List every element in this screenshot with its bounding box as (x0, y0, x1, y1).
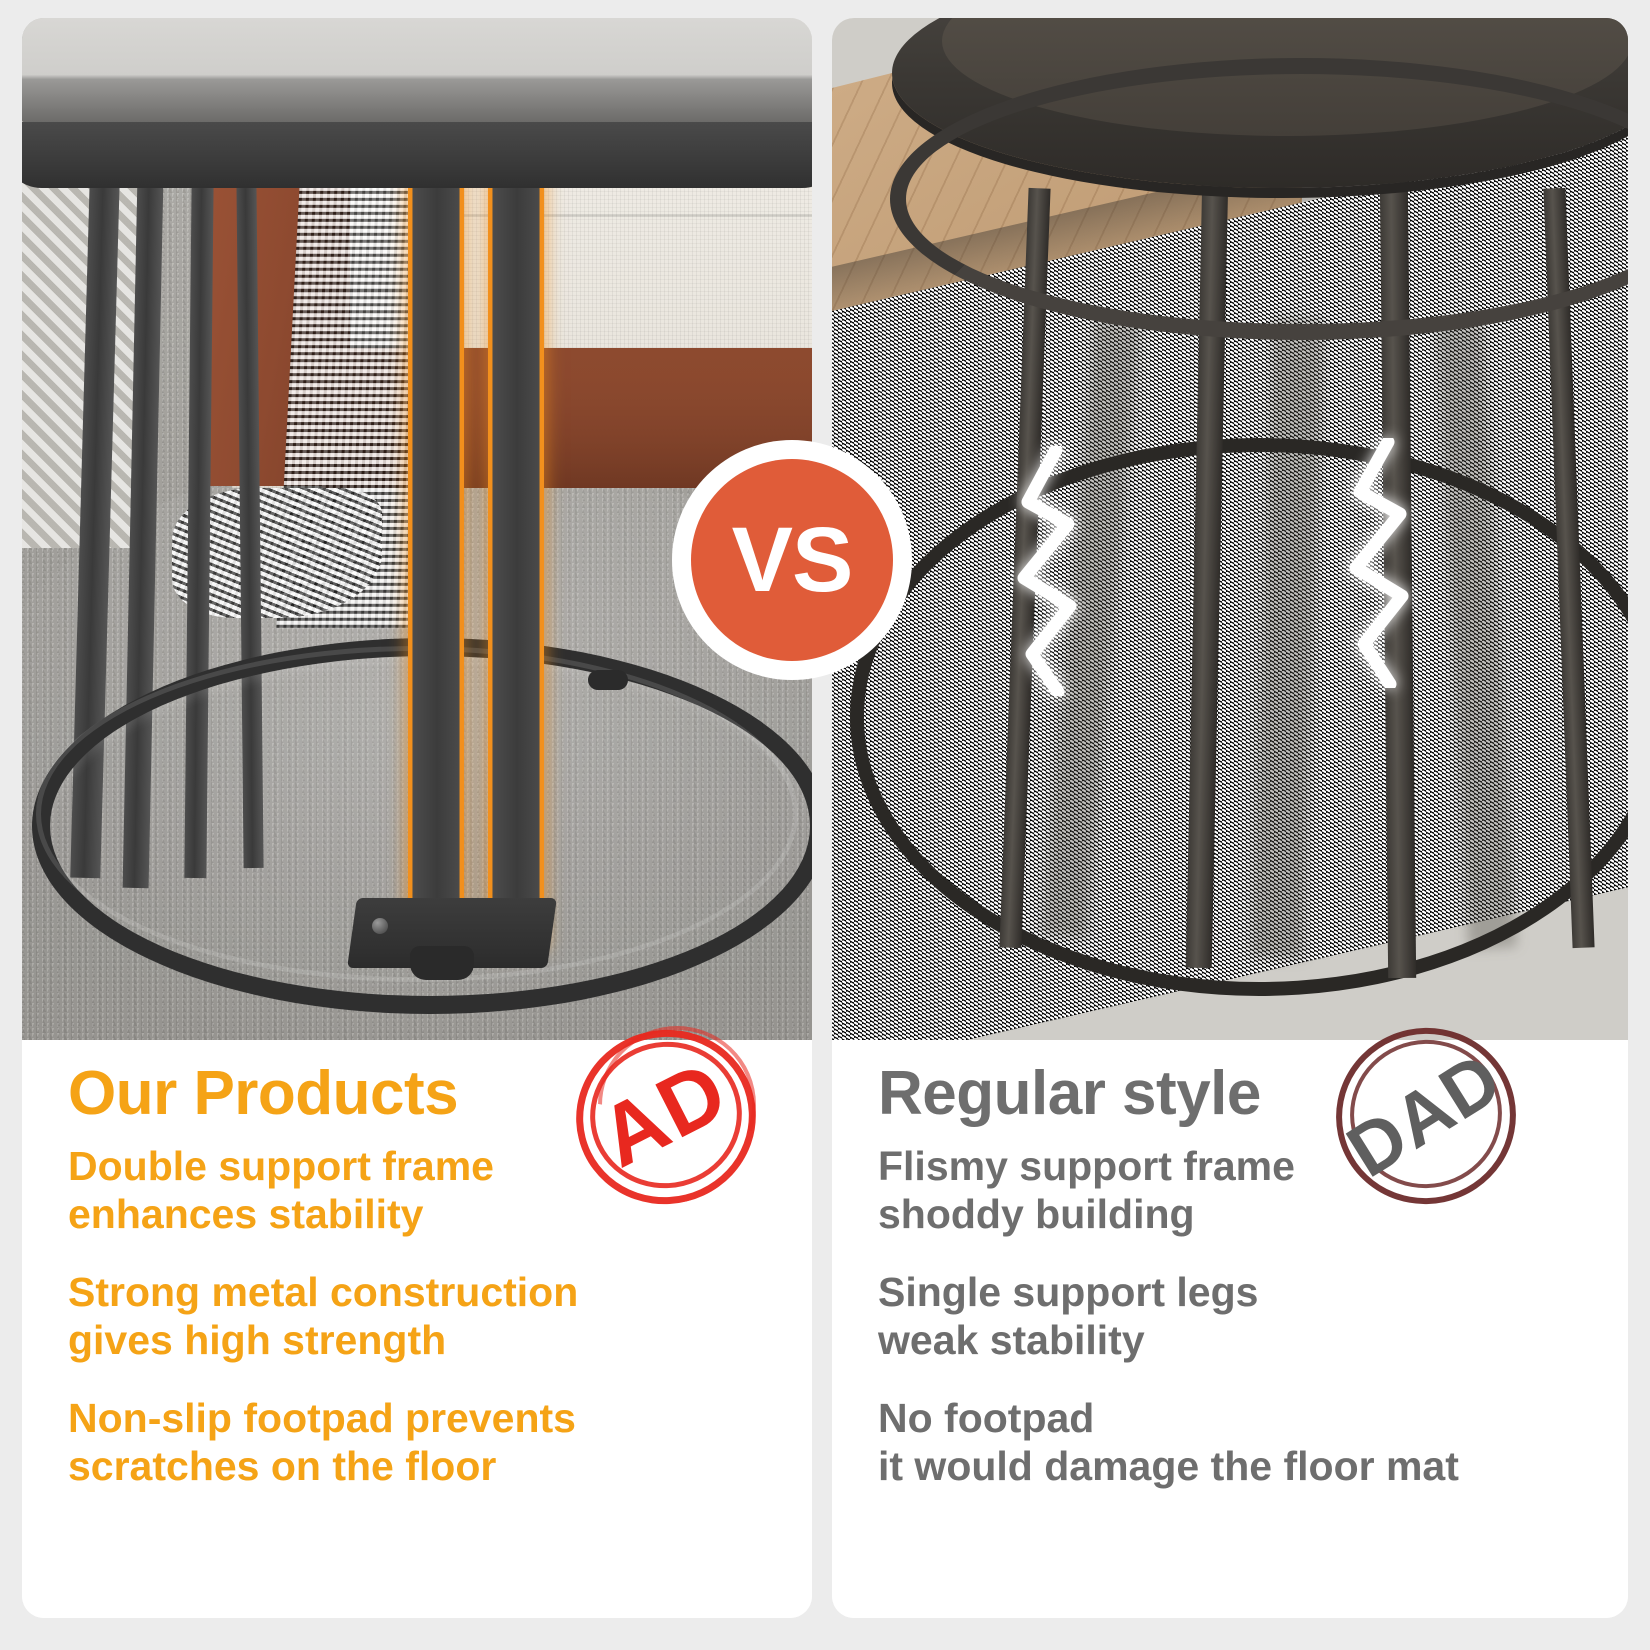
base-screw (372, 918, 388, 934)
shake-line-left-icon (998, 446, 1108, 696)
left-feature-item-3: Non-slip footpad prevents scratches on t… (68, 1395, 778, 1491)
left-feature-item-1: Double support frame enhances stability (68, 1143, 778, 1239)
left-feature-list: Double support frame enhances stability … (68, 1143, 778, 1491)
non-slip-footpad (410, 946, 474, 980)
shake-line-right-icon (1332, 438, 1442, 688)
table-top-apron (22, 122, 812, 188)
vs-badge-core: VS (691, 459, 893, 661)
right-feature-list: Flismy support frame shoddy building Sin… (878, 1143, 1594, 1491)
non-slip-footpad-rear (588, 670, 628, 690)
right-caption-area: Regular style Flismy support frame shodd… (832, 1040, 1628, 1618)
right-product-panel: Regular style Flismy support frame shodd… (832, 18, 1628, 1618)
right-feature-item-1: Flismy support frame shoddy building (878, 1143, 1594, 1239)
right-feature-item-2: Single support legs weak stability (878, 1269, 1594, 1365)
right-product-photo (832, 18, 1628, 1040)
double-leg-highlight-right (488, 136, 544, 946)
table-top-surface (22, 18, 812, 136)
right-panel-title: Regular style (878, 1062, 1594, 1125)
left-feature-item-2: Strong metal construction gives high str… (68, 1269, 778, 1365)
comparison-infographic: Our Products Double support frame enhanc… (0, 0, 1650, 1650)
vs-badge-icon: VS (672, 440, 912, 680)
regular-table-base-ring (850, 438, 1628, 996)
right-feature-item-3: No footpad it would damage the floor mat (878, 1395, 1594, 1491)
double-leg-highlight-left (408, 136, 464, 946)
left-panel-title: Our Products (68, 1062, 778, 1125)
vs-badge-label: VS (732, 514, 853, 606)
left-caption-area: Our Products Double support frame enhanc… (22, 1040, 812, 1618)
left-product-panel: Our Products Double support frame enhanc… (22, 18, 812, 1618)
